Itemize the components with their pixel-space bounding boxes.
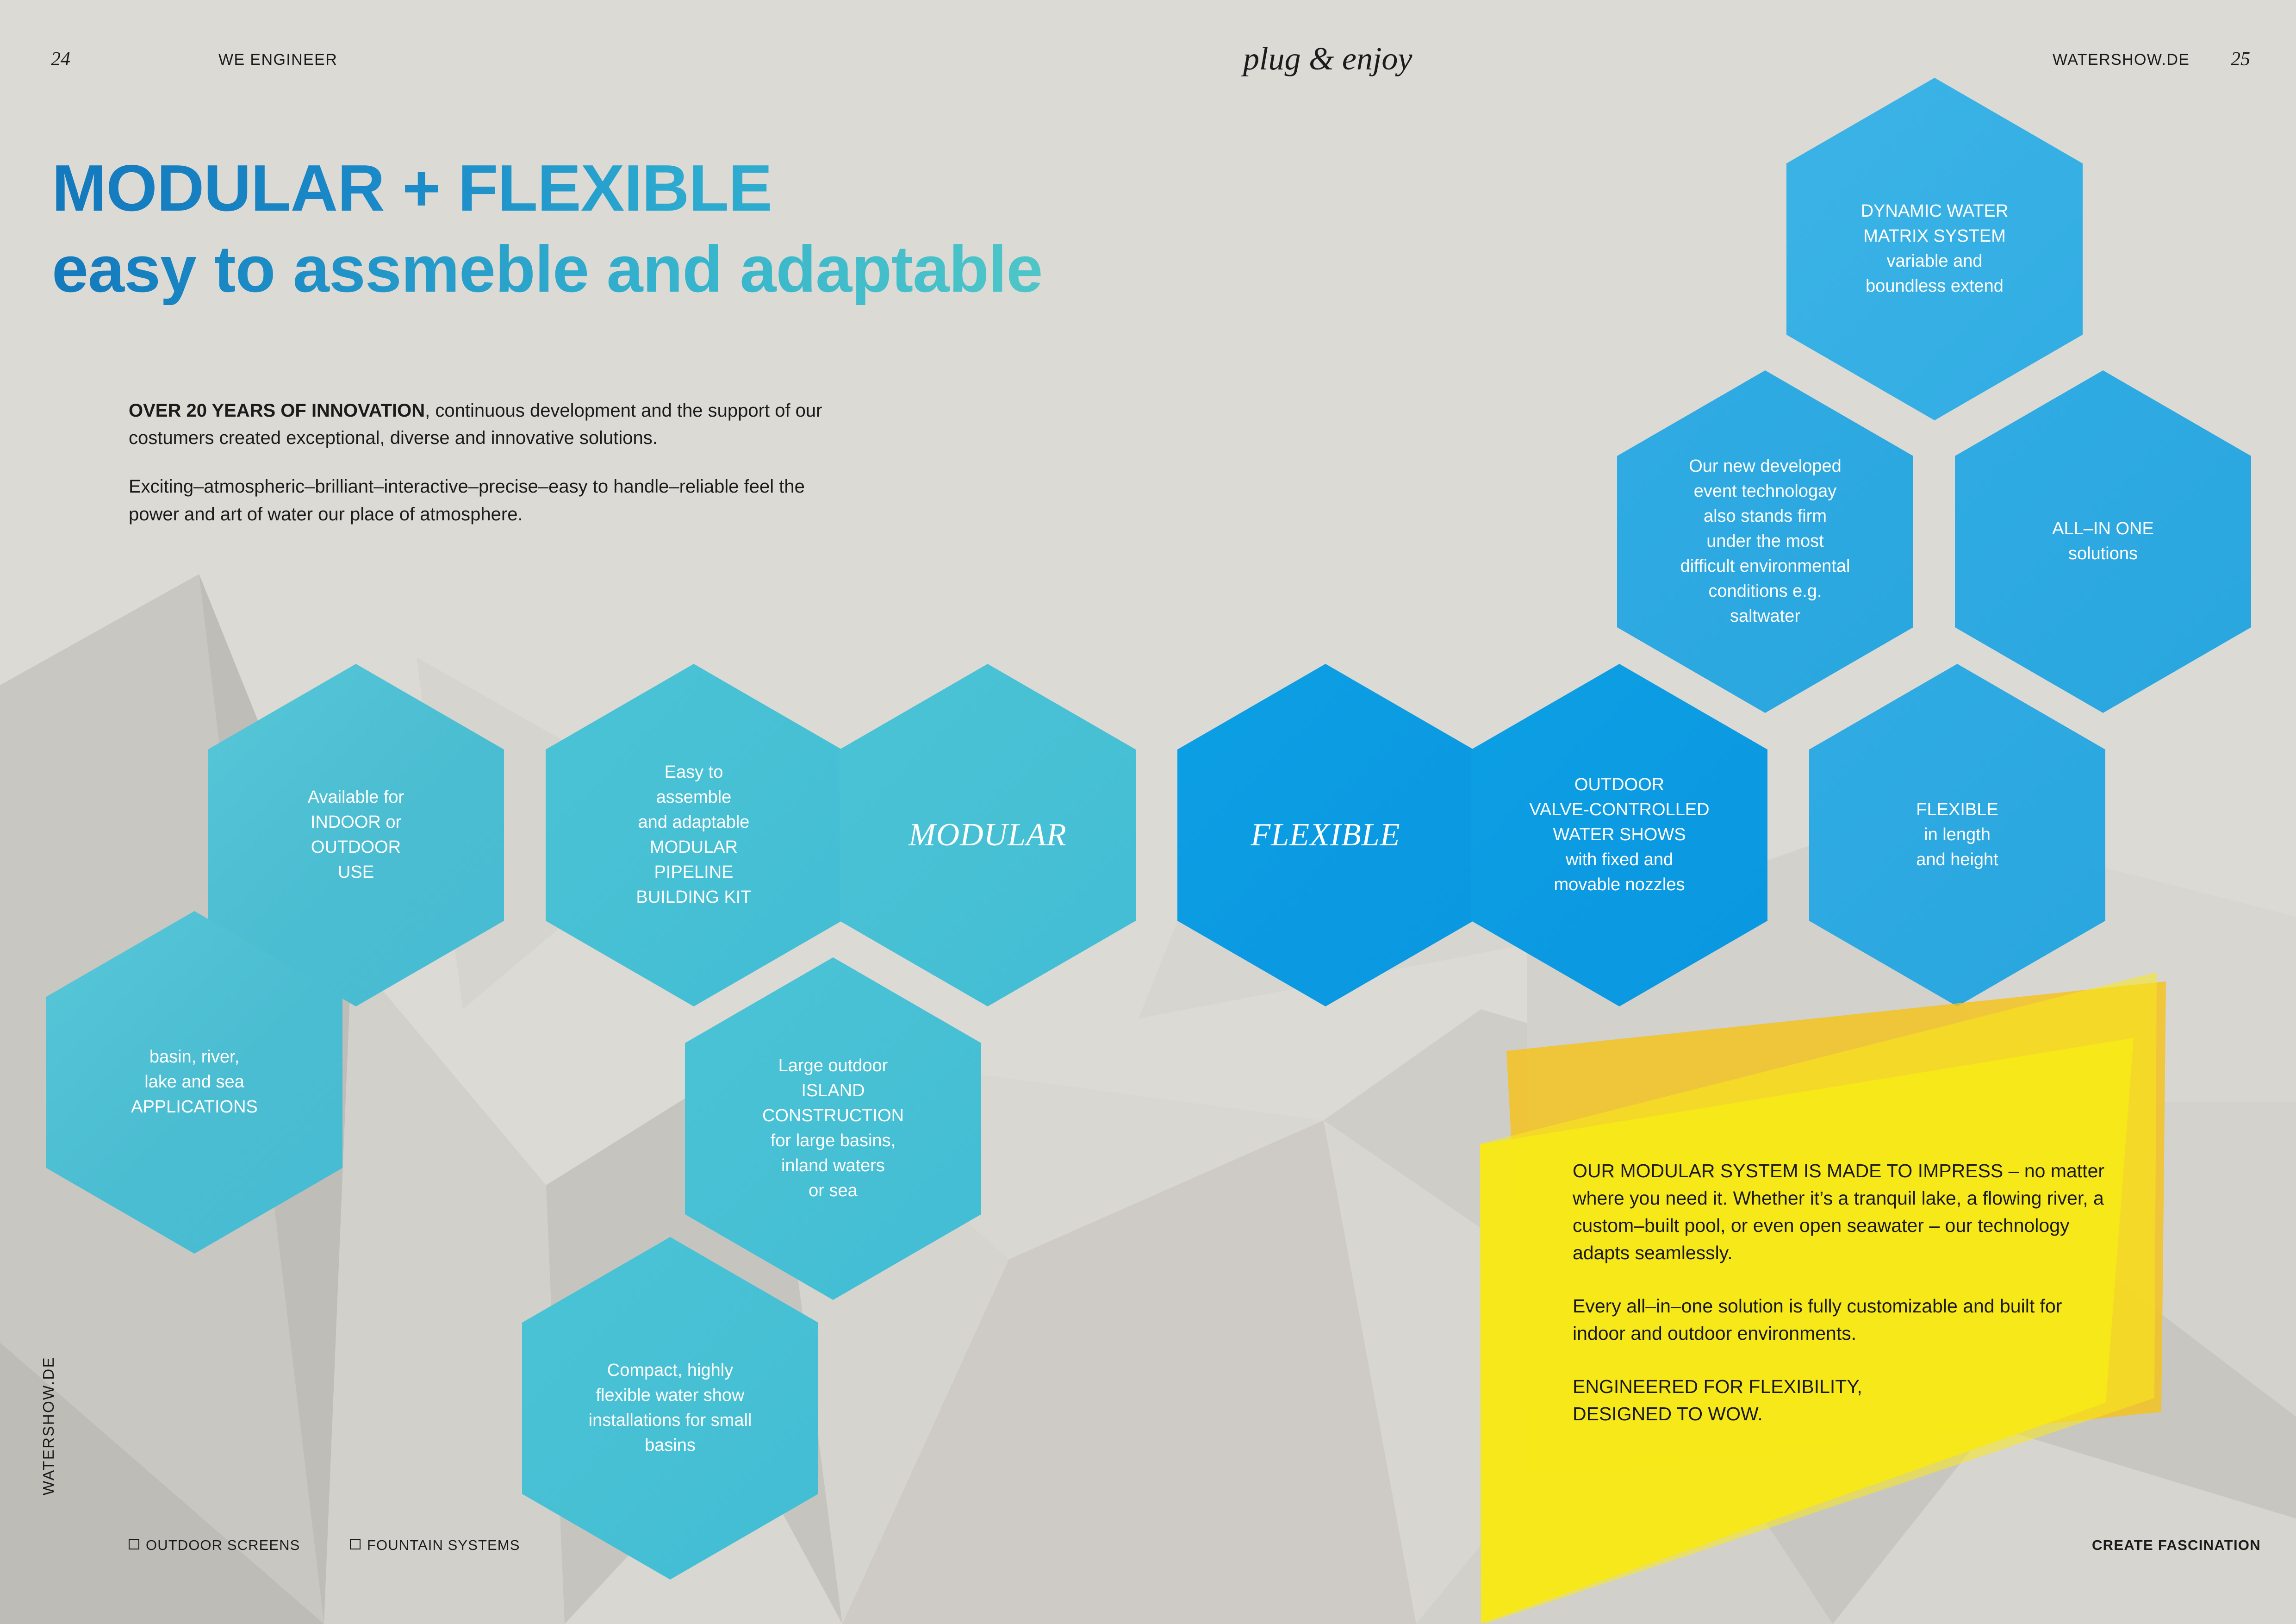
checkbox-square-icon [129,1539,139,1549]
intro-paragraph-2: Exciting–atmospheric–brilliant–interacti… [129,476,805,524]
footer-tag-label: OUTDOOR SCREENS [146,1537,300,1553]
header-left-label: WE ENGINEER [218,51,337,69]
hexagon-label: ALL–IN ONE solutions [2028,517,2178,567]
hexagon-label: Our new developed event technologay also… [1656,454,1873,629]
side-brand-watershow: WATERSHOW.DE [40,1356,57,1495]
header-center-tagline: plug & enjoy [1243,41,1412,78]
page-title-line-1: MODULAR + FLEXIBLE [52,153,1042,224]
footer-tag-label: FOUNTAIN SYSTEMS [367,1537,520,1553]
header-right-label: WATERSHOW.DE [2053,51,2190,69]
header-left-page-number: 24 [51,48,70,70]
yellow-panel-copy: OUR MODULAR SYSTEM IS MADE TO IMPRESS – … [1573,1157,2119,1428]
hexagon-label: FLEXIBLE [1227,812,1424,858]
hexagon-label: Compact, highly flexible water show inst… [565,1358,775,1458]
hexagon-label: Large outdoor ISLAND CONSTRUCTION for la… [739,1054,927,1204]
hexagon-label: basin, river, lake and sea APPLICATIONS [107,1045,281,1120]
hexagon-label: DYNAMIC WATER MATRIX SYSTEM variable and… [1837,199,2032,299]
yellow-spacer-2 [1573,1347,2119,1373]
intro-copy: OVER 20 YEARS OF INNOVATION, continuous … [129,397,851,528]
intro-spacer [129,452,851,473]
hexagon-label: MODULAR [885,812,1090,858]
yellow-paragraph-3: ENGINEERED FOR FLEXIBILITY, DESIGNED TO … [1573,1373,2119,1428]
hexagon-label: FLEXIBLE in length and height [1892,798,2022,873]
yellow-spacer-1 [1573,1267,2119,1293]
yellow-paragraph-2: Every all–in–one solution is fully custo… [1573,1295,2062,1344]
page-title-line-2: easy to assmeble and adaptable [52,234,1042,305]
hexagon-label: Easy to assemble and adaptable MODULAR P… [612,760,775,910]
header-right-page-number: 25 [2231,48,2250,70]
footer-tag-outdoor-screens[interactable]: OUTDOOR SCREENS [129,1537,300,1554]
checkbox-square-icon [350,1539,361,1549]
page-title: MODULAR + FLEXIBLE easy to assmeble and … [52,153,1042,305]
footer-tag-fountain-systems[interactable]: FOUNTAIN SYSTEMS [350,1537,520,1554]
hexagon-label: OUTDOOR VALVE-CONTROLLED WATER SHOWS wit… [1506,773,1733,898]
page-canvas: 24 WE ENGINEER plug & enjoy WATERSHOW.DE… [0,0,2296,1624]
hexagon-label: Available for INDOOR or OUTDOOR USE [284,785,428,885]
yellow-paragraph-1: OUR MODULAR SYSTEM IS MADE TO IMPRESS – … [1573,1160,2104,1263]
intro-lead: OVER 20 YEARS OF INNOVATION [129,400,425,421]
footer-slogan: CREATE FASCINATION [2092,1537,2261,1554]
